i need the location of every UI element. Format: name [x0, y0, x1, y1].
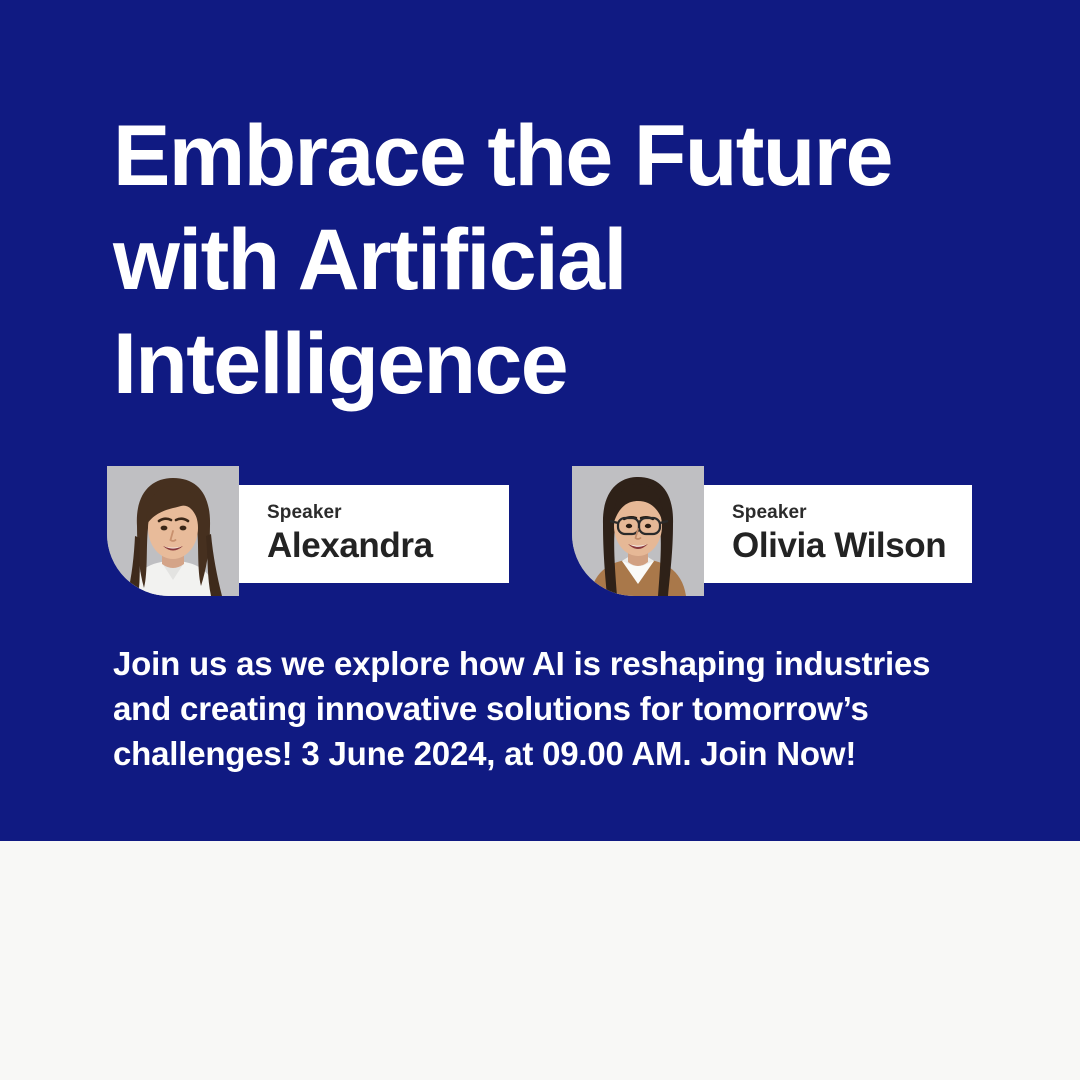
speaker-info-panel-olivia-wilson: Speaker Olivia Wilson: [704, 485, 972, 583]
poster-canvas: Embrace the Future with Artificial Intel…: [0, 0, 1080, 1080]
speaker-photo-alexandra: [107, 466, 239, 596]
speaker-card-olivia-wilson: Speaker Olivia Wilson: [572, 466, 972, 596]
body-copy-line-2: and creating innovative solutions for to…: [113, 686, 993, 731]
speaker-name-label: Alexandra: [267, 526, 509, 566]
speaker-role-label: Speaker: [267, 502, 509, 524]
footer-section: Capcut Free Registration! Follow our soc…: [0, 841, 1080, 1080]
headline-line-1: Embrace the Future: [113, 104, 1013, 208]
hero-section: Embrace the Future with Artificial Intel…: [0, 0, 1080, 841]
page-title: Embrace the Future with Artificial Intel…: [113, 104, 1013, 416]
headline-line-3: Intelligence: [113, 312, 1013, 416]
speaker-info-panel-alexandra: Speaker Alexandra: [239, 485, 509, 583]
body-copy-line-3: challenges! 3 June 2024, at 09.00 AM. Jo…: [113, 731, 993, 776]
speaker-name-label: Olivia Wilson: [732, 526, 972, 566]
speaker-role-label: Speaker: [732, 502, 972, 524]
event-description: Join us as we explore how AI is reshapin…: [113, 641, 993, 776]
speaker-photo-olivia-wilson: [572, 466, 704, 596]
headline-line-2: with Artificial: [113, 208, 1013, 312]
speaker-card-alexandra: Speaker Alexandra: [107, 466, 509, 596]
body-copy-line-1: Join us as we explore how AI is reshapin…: [113, 641, 993, 686]
